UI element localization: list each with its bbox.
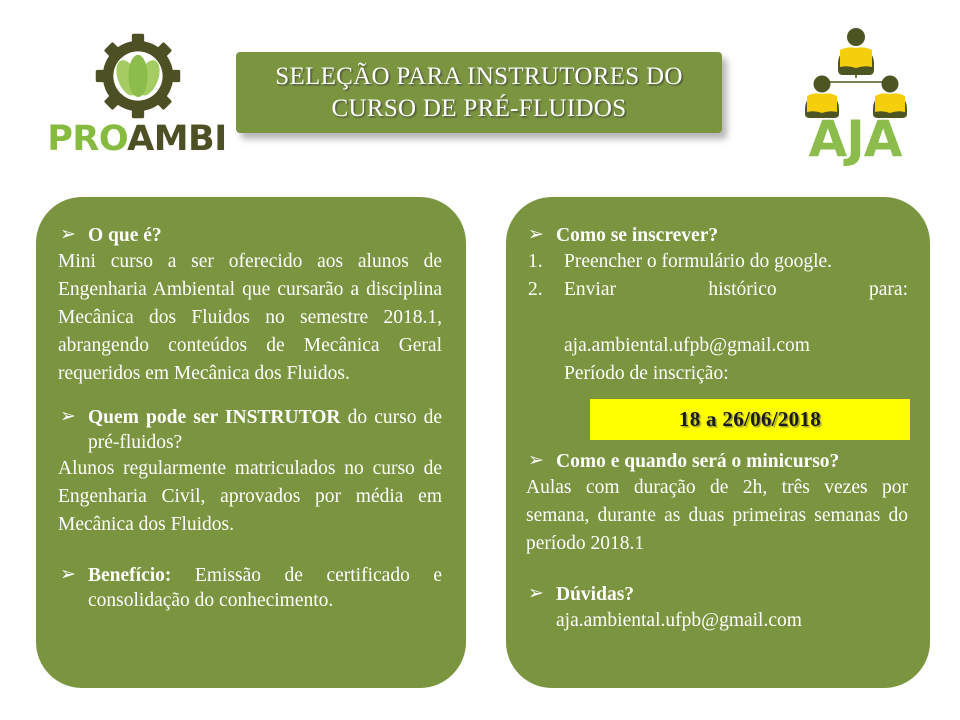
enrollment-steps: 1. Preencher o formulário do google. 2. … [526, 248, 908, 388]
page-title-line2: CURSO DE PRÉ-FLUIDOS [275, 93, 682, 125]
section-heading-como-se-inscrever: ➢ Como se inscrever? [526, 223, 908, 248]
bullet-arrow-icon: ➢ [60, 404, 76, 429]
bullet-arrow-icon: ➢ [528, 448, 544, 473]
section-heading-beneficio: ➢ Benefício: Emissão de certificado e co… [58, 563, 442, 613]
section-heading-text: Como e quando será o minicurso? [556, 451, 839, 472]
section-body-como-quando: Aulas com duração de 2h, três vezes por … [526, 474, 908, 558]
section-heading-duvidas: ➢ Dúvidas? [526, 582, 908, 607]
title-banner: SELEÇÃO PARA INSTRUTORES DO CURSO DE PRÉ… [236, 52, 722, 133]
list-item-text: Enviar histórico para: [564, 276, 908, 332]
spacer [58, 539, 442, 563]
section-heading-text-bold: Benefício: [88, 565, 171, 586]
proambi-word-pro: PRO [47, 119, 127, 159]
list-item-text: Preencher o formulário do google. [564, 251, 832, 272]
enrollment-email[interactable]: aja.ambiental.ufpb@gmail.com [564, 335, 810, 356]
list-item-index: 1. [528, 248, 543, 276]
list-item: 2. Enviar histórico para: aja.ambiental.… [526, 276, 908, 388]
section-heading-text-bold: Quem pode ser INSTRUTOR [88, 407, 341, 428]
aja-logo: AJA [762, 26, 948, 166]
enrollment-date-text: 18 a 26/06/2018 [679, 407, 821, 432]
section-body-quem-pode: Alunos regularmente matriculados no curs… [58, 455, 442, 539]
section-body-o-que-e: Mini curso a ser oferecido aos alunos de… [58, 248, 442, 388]
bullet-arrow-icon: ➢ [528, 581, 544, 606]
spacer [526, 558, 908, 582]
proambi-logo: PROAMBI [42, 30, 232, 160]
spacer [58, 388, 442, 405]
section-heading-text: Dúvidas? [556, 584, 634, 605]
bullet-arrow-icon: ➢ [60, 222, 76, 247]
header: PROAMBI SELEÇÃO PARA INSTRUTORES DO CURS… [0, 0, 960, 190]
spacer [526, 440, 908, 449]
proambi-word-ambi: AMBI [127, 119, 227, 159]
aja-wordmark: AJA [762, 112, 948, 166]
page-title-line1: SELEÇÃO PARA INSTRUTORES DO [275, 61, 682, 93]
section-heading-quem-pode: ➢ Quem pode ser INSTRUTOR do curso de pr… [58, 405, 442, 455]
section-heading-text: O que é? [88, 225, 162, 246]
enrollment-date-box: 18 a 26/06/2018 [590, 399, 910, 440]
section-heading-o-que-e: ➢ O que é? [58, 223, 442, 248]
gear-leaves-icon [94, 32, 182, 120]
section-heading-text: Como se inscrever? [556, 225, 718, 246]
list-item: 1. Preencher o formulário do google. [526, 248, 908, 276]
bullet-arrow-icon: ➢ [60, 562, 76, 587]
panel-about: ➢ O que é? Mini curso a ser oferecido ao… [36, 197, 466, 688]
bullet-arrow-icon: ➢ [528, 222, 544, 247]
page-title: SELEÇÃO PARA INSTRUTORES DO CURSO DE PRÉ… [265, 61, 692, 125]
proambi-wordmark: PROAMBI [42, 120, 232, 158]
list-item-index: 2. [528, 276, 543, 304]
doubts-email[interactable]: aja.ambiental.ufpb@gmail.com [526, 607, 908, 635]
enrollment-period-label: Período de inscrição: [564, 363, 729, 384]
section-heading-como-quando: ➢ Como e quando será o minicurso? [526, 449, 908, 474]
panel-enrollment: ➢ Como se inscrever? 1. Preencher o form… [506, 197, 930, 688]
three-readers-network-icon [776, 26, 936, 118]
